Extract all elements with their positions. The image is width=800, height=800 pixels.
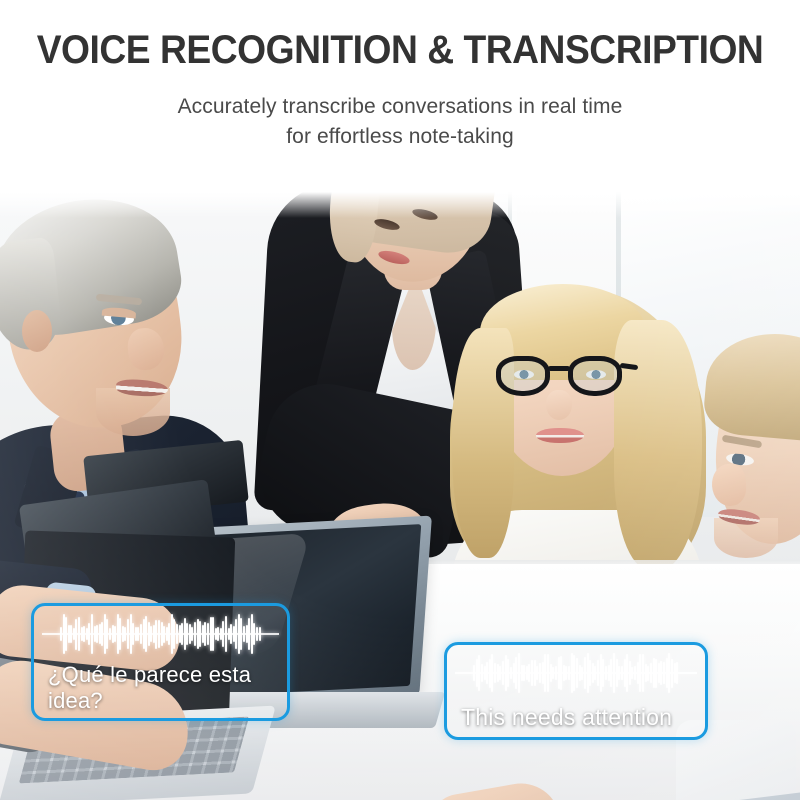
waveform-bars: [473, 653, 679, 693]
waveform-icon: [455, 653, 697, 693]
transcription-caption: This needs attention: [461, 704, 695, 731]
meeting-photo: ¿Qué le parece esta idea? This needs att…: [0, 192, 800, 800]
subtitle-line-2: for effortless note-taking: [0, 122, 800, 152]
waveform-icon: [42, 614, 279, 654]
subtitle-line-1: Accurately transcribe conversations in r…: [178, 95, 623, 118]
blonde-woman-lips: [536, 428, 584, 443]
transcription-bubble-spanish: ¿Qué le parece esta idea?: [31, 603, 290, 721]
page-subtitle: Accurately transcribe conversations in r…: [0, 92, 800, 152]
older-man-ear: [22, 310, 52, 352]
blonde-woman-hair-right: [614, 320, 702, 570]
eyeglass-lens-right: [568, 356, 622, 396]
eyeglass-lens-left: [496, 356, 550, 396]
header-section: VOICE RECOGNITION & TRANSCRIPTION Accura…: [0, 0, 800, 192]
promo-page: VOICE RECOGNITION & TRANSCRIPTION Accura…: [0, 0, 800, 800]
waveform-bars: [60, 614, 261, 654]
page-title: VOICE RECOGNITION & TRANSCRIPTION: [28, 28, 772, 73]
blonde-woman-nose: [546, 390, 572, 420]
eyeglass-bridge: [548, 366, 570, 371]
transcription-caption: ¿Qué le parece esta idea?: [48, 662, 277, 714]
transcription-bubble-attention: This needs attention: [444, 642, 708, 740]
